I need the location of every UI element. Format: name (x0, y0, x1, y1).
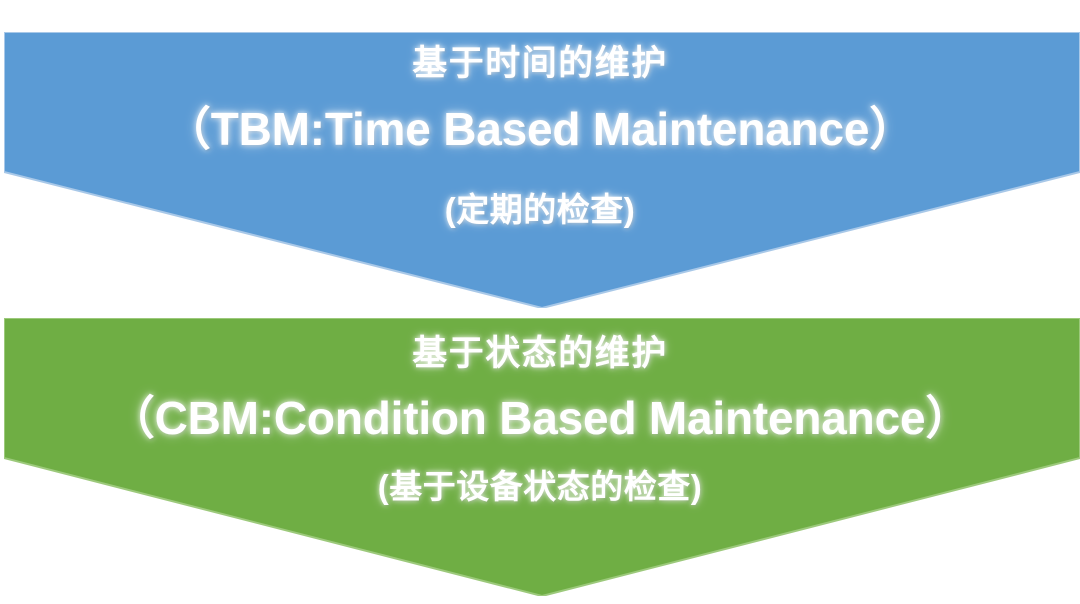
cbm-chevron-shape (4, 318, 1080, 596)
diagram-canvas: 基于时间的维护 （TBM:Time Based Maintenance） (定期… (0, 0, 1080, 604)
tbm-chevron-block[interactable] (4, 32, 1080, 308)
cbm-chevron-block[interactable] (4, 318, 1080, 596)
tbm-chevron-shape (4, 32, 1080, 308)
